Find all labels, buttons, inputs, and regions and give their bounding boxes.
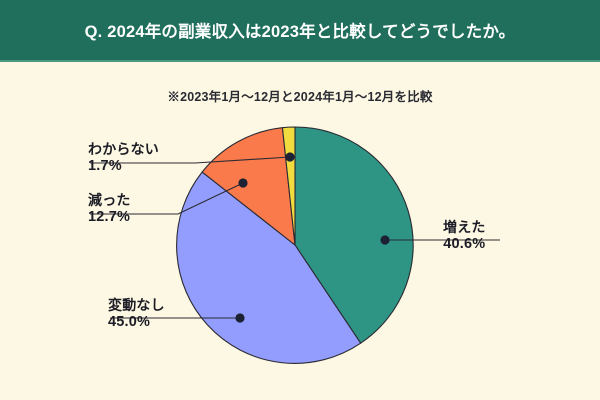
pie-label-hetta: 減った 12.7% <box>88 192 131 227</box>
pie-label-fueta-name: 増えた <box>443 219 486 236</box>
pie-label-wakaranai-name: わからない <box>88 141 159 158</box>
leader-dot-fueta <box>380 235 389 244</box>
pie-label-wakaranai: わからない 1.7% <box>88 141 159 176</box>
pie-label-hetta-name: 減った <box>88 192 131 209</box>
pie-label-hendou: 変動なし 45.0% <box>108 297 165 332</box>
pie-label-hendou-name: 変動なし <box>108 297 165 314</box>
pie-label-wakaranai-value: 1.7% <box>88 158 159 176</box>
leader-dot-wakaranai <box>285 152 294 161</box>
pie-label-fueta: 増えた 40.6% <box>443 219 486 254</box>
pie-label-hendou-value: 45.0% <box>108 314 165 332</box>
pie-label-fueta-value: 40.6% <box>443 236 486 254</box>
leader-dot-hetta <box>238 178 247 187</box>
infographic-page: Q. 2024年の副業収入は2023年と比較してどうでしたか。 ※2023年1月… <box>0 0 600 400</box>
leader-dot-hendou <box>235 313 244 322</box>
pie-label-hetta-value: 12.7% <box>88 209 131 227</box>
